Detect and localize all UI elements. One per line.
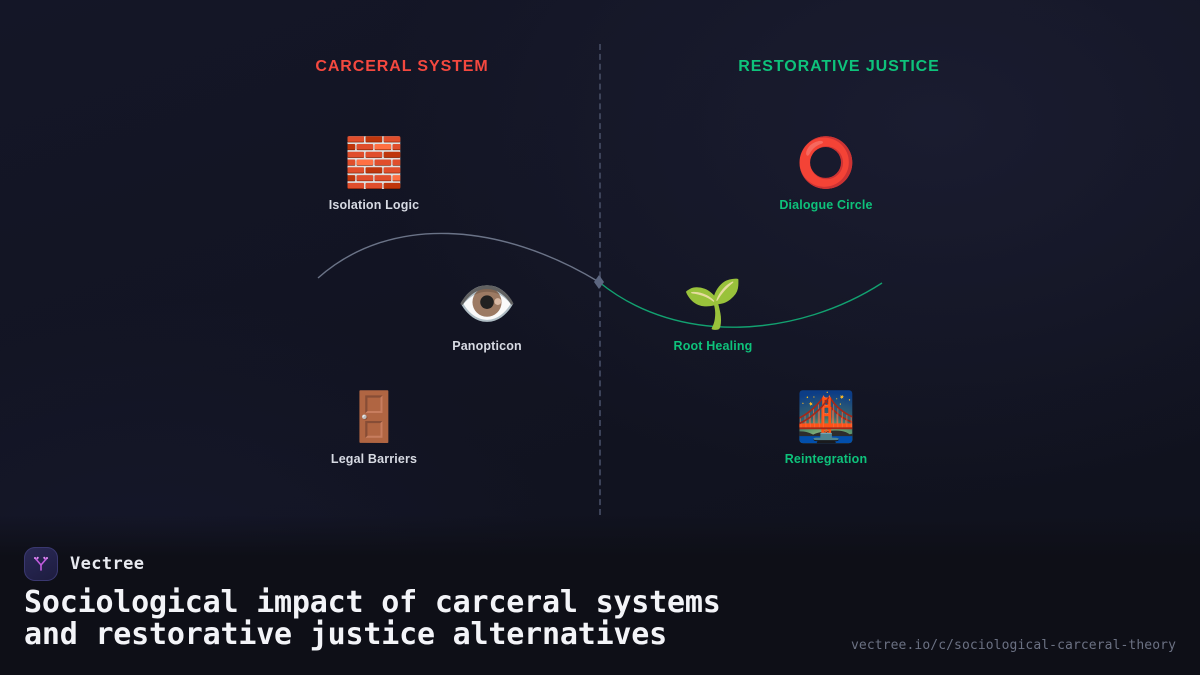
node-label-panopticon: Panopticon [382,339,592,353]
node-root-healing[interactable]: 🌱 Root Healing [608,275,818,353]
footer-url: vectree.io/c/sociological-carceral-theor… [851,638,1176,653]
node-label-legal-barriers: Legal Barriers [269,452,479,466]
column-header-carceral-system: CARCERAL SYSTEM [315,58,488,76]
page-title: Sociological impact of carceral systems … [24,587,784,651]
node-label-isolation-logic: Isolation Logic [269,198,479,212]
brand-row: Vectree [24,547,144,581]
red-circle-icon: ⭕ [721,134,931,192]
footer-bar: Vectree Sociological impact of carceral … [0,515,1200,675]
node-panopticon[interactable]: 👁️ Panopticon [382,275,592,353]
node-dialogue-circle[interactable]: ⭕ Dialogue Circle [721,134,931,212]
seedling-icon: 🌱 [608,275,818,333]
vectree-logo-icon [24,547,58,581]
brand-name: Vectree [70,554,144,574]
node-label-root-healing: Root Healing [608,339,818,353]
node-isolation-logic[interactable]: 🧱 Isolation Logic [269,134,479,212]
node-label-dialogue-circle: Dialogue Circle [721,198,931,212]
infographic-canvas: CARCERAL SYSTEM RESTORATIVE JUSTICE 🧱 Is… [0,0,1200,675]
node-legal-barriers[interactable]: 🚪 Legal Barriers [269,388,479,466]
node-reintegration[interactable]: 🌉 Reintegration [721,388,931,466]
bridge-at-night-icon: 🌉 [721,388,931,446]
brick-wall-icon: 🧱 [269,134,479,192]
column-header-restorative-justice: RESTORATIVE JUSTICE [738,58,939,76]
eye-icon: 👁️ [382,275,592,333]
door-icon: 🚪 [269,388,479,446]
node-label-reintegration: Reintegration [721,452,931,466]
center-divider [599,44,601,515]
